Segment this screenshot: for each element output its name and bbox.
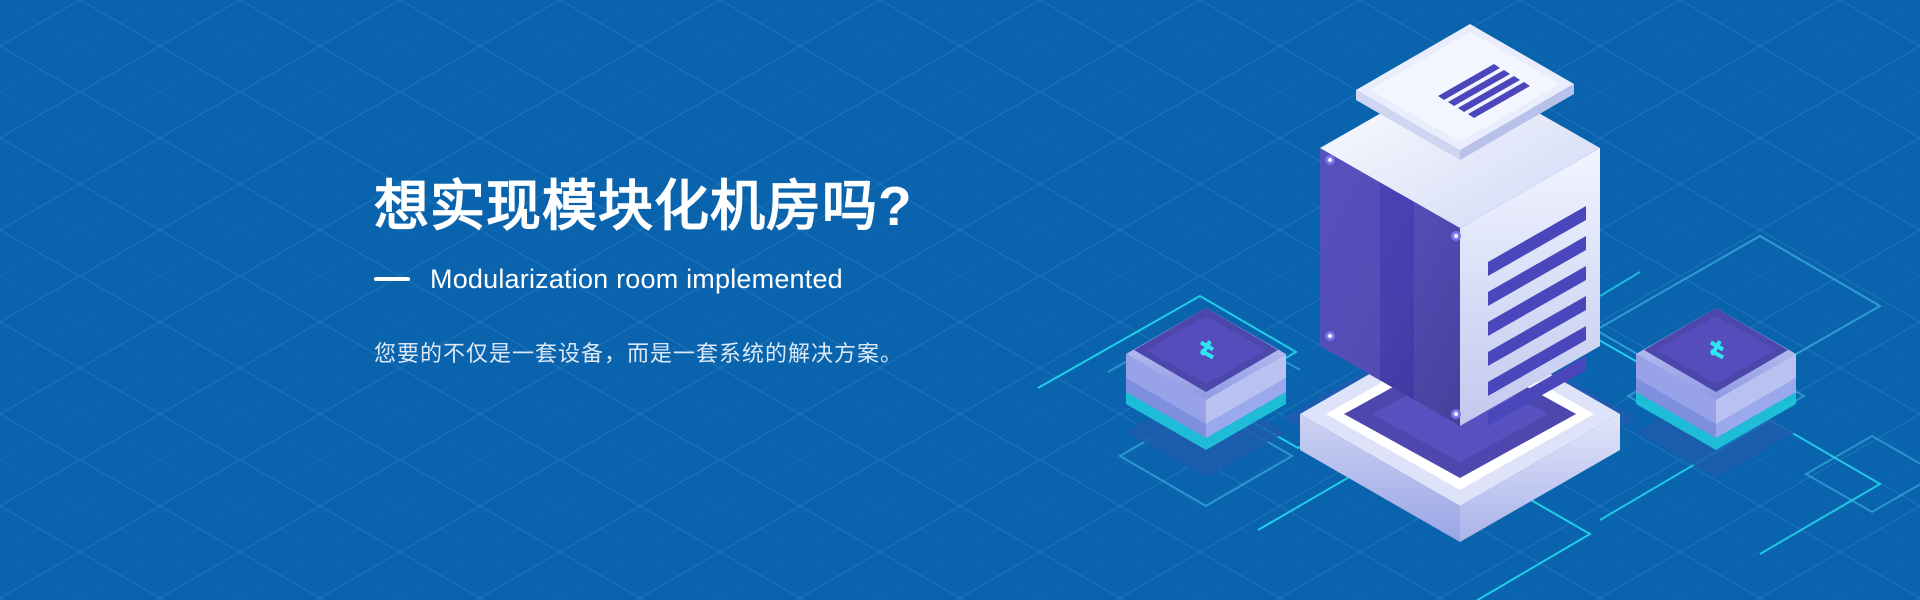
accent-rule xyxy=(374,277,410,281)
subheadline-row: Modularization room implemented xyxy=(374,264,1134,295)
hero-copy-block: 想实现模块化机房吗? Modularization room implement… xyxy=(374,176,1134,392)
hero-banner: 想实现模块化机房吗? Modularization room implement… xyxy=(0,0,1920,600)
page-title: 想实现模块化机房吗? xyxy=(374,176,1134,238)
rack-cabinet xyxy=(1320,24,1600,426)
subheadline: Modularization room implemented xyxy=(430,264,843,295)
isometric-server-room-illustration xyxy=(1000,0,1920,600)
body-text: 您要的不仅是一套设备，而是一套系统的解决方案。 xyxy=(374,337,1134,370)
server-rack xyxy=(1300,24,1620,542)
